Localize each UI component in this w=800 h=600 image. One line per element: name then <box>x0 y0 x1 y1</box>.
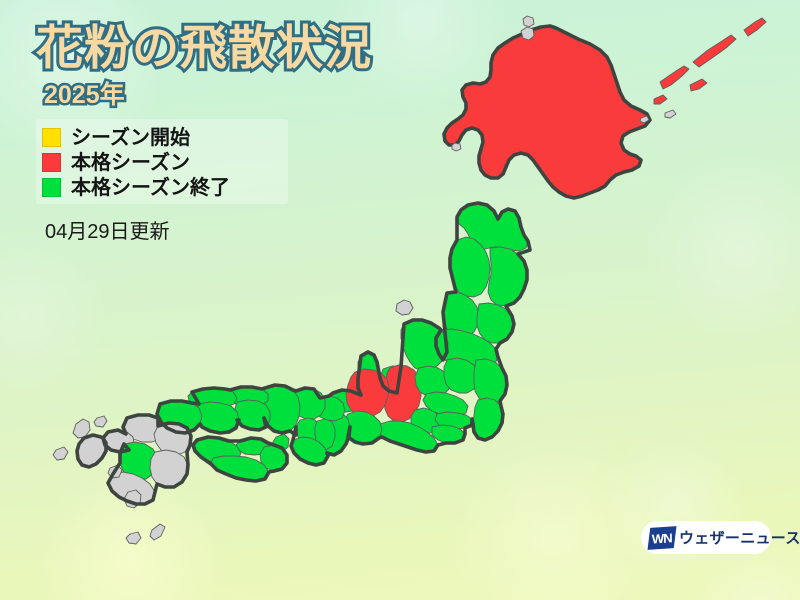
legend: シーズン開始 本格シーズン 本格シーズン終了 <box>36 119 288 204</box>
legend-item-season-start[interactable]: シーズン開始 <box>42 125 282 150</box>
legend-item-peak-season[interactable]: 本格シーズン <box>42 150 282 175</box>
page-title-year: 2025年 <box>44 82 125 108</box>
island-iki <box>94 416 107 427</box>
legend-swatch-yellow <box>42 128 61 147</box>
island-goto <box>53 447 68 460</box>
island-kuril-tip[interactable] <box>744 18 766 36</box>
region-hokkaido[interactable] <box>444 16 766 198</box>
legend-label-peak-season-ended: 本格シーズン終了 <box>71 178 230 198</box>
legend-swatch-green <box>42 178 61 197</box>
legend-swatch-red <box>42 153 61 172</box>
island-rebun <box>523 16 534 27</box>
island-rishiri <box>521 27 534 40</box>
island-etorofu[interactable] <box>693 35 736 67</box>
weathernews-logo-text: ウェザーニュース <box>679 527 800 548</box>
legend-label-season-start: シーズン開始 <box>71 128 190 148</box>
region-kyushu[interactable] <box>53 415 191 544</box>
island-tanegashima <box>150 524 165 540</box>
update-timestamp: 04月29日更新 <box>45 215 170 244</box>
island-kunashiri[interactable] <box>660 66 689 89</box>
island-okushiri <box>452 143 461 151</box>
region-tohoku[interactable] <box>436 203 528 369</box>
prefecture-chiba[interactable] <box>473 398 503 440</box>
island-shikotan[interactable] <box>690 79 707 91</box>
legend-label-peak-season: 本格シーズン <box>71 153 190 173</box>
island-sado <box>396 300 413 315</box>
island-yakushima <box>126 532 141 544</box>
wn-logo-letters: WN <box>652 529 672 545</box>
island-habomai[interactable] <box>654 95 667 104</box>
island-habomai-small <box>665 110 676 118</box>
weathernews-logo[interactable]: WN ウェザーニュース <box>641 521 771 554</box>
wn-logo-icon: WN <box>647 526 676 550</box>
page-title: 花粉の飛散状況 <box>36 23 372 72</box>
pollen-map-infographic: 花粉の飛散状況 2025年 シーズン開始 本格シーズン 本格シーズン終了 04月… <box>0 0 800 600</box>
legend-item-peak-season-ended[interactable]: 本格シーズン終了 <box>42 175 282 200</box>
